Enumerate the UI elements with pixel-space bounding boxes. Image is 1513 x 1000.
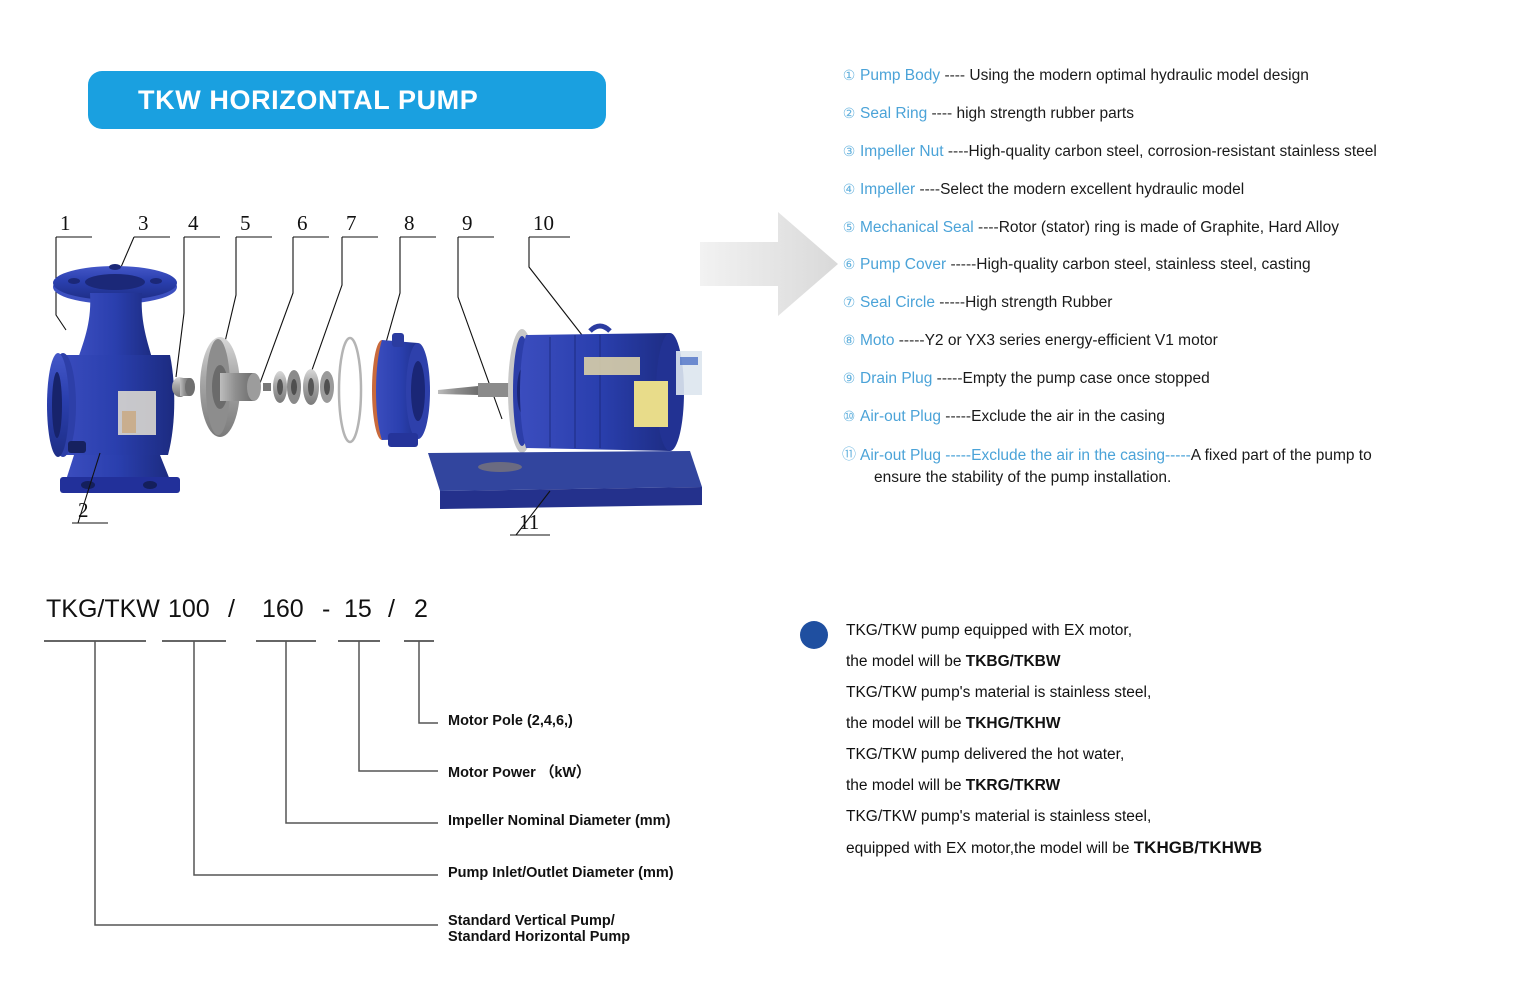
legend-part-name: Air-out Plug bbox=[860, 408, 941, 425]
note-text: TKG/TKW pump's material is stainless ste… bbox=[846, 808, 1151, 825]
legend-description: Using the modern optimal hydraulic model… bbox=[969, 67, 1308, 84]
bullet-dot-icon bbox=[800, 621, 828, 649]
motor-part bbox=[428, 326, 702, 509]
legend-number: ① bbox=[838, 66, 860, 85]
legend-item-11: ⑪ Air-out Plug -----Exclude the air in t… bbox=[838, 445, 1498, 490]
legend-number: ⑨ bbox=[838, 369, 860, 388]
legend-item: ⑧ Moto -----Y2 or YX3 series energy-effi… bbox=[838, 331, 1498, 350]
legend-dash: ----- bbox=[941, 447, 971, 464]
page-title: TKW HORIZONTAL PUMP bbox=[88, 85, 478, 116]
legend-number: ④ bbox=[838, 180, 860, 199]
callout-number-2: 2 bbox=[78, 498, 89, 522]
legend-item: ③ Impeller Nut ----High-quality carbon s… bbox=[838, 142, 1498, 161]
callout-number-10: 10 bbox=[533, 211, 554, 235]
legend-part-name: Pump Body bbox=[860, 67, 940, 84]
legend-item: ⑤ Mechanical Seal ----Rotor (stator) rin… bbox=[838, 218, 1498, 237]
legend-item: ④ Impeller ----Select the modern excelle… bbox=[838, 180, 1498, 199]
model-callout-impeller-diameter: Impeller Nominal Diameter (mm) bbox=[448, 813, 670, 829]
legend-description: high strength rubber parts bbox=[956, 105, 1134, 122]
note-line: the model will be TKHG/TKHW bbox=[846, 708, 1490, 739]
model-callout-lines bbox=[30, 595, 730, 965]
impeller-nut-part bbox=[172, 377, 195, 397]
callout-number-4: 4 bbox=[188, 211, 199, 235]
legend-dash: ----- bbox=[941, 408, 971, 425]
legend-dash: ---- bbox=[927, 105, 956, 122]
legend-dash: ----- bbox=[946, 256, 976, 273]
callout-number-9: 9 bbox=[462, 211, 473, 235]
callout-number-7: 7 bbox=[346, 211, 357, 235]
legend-item: ⑩ Air-out Plug -----Exclude the air in t… bbox=[838, 407, 1498, 426]
callout-number-3: 3 bbox=[138, 211, 149, 235]
legend-description: A fixed part of the pump to bbox=[1191, 447, 1372, 464]
legend-description: High strength Rubber bbox=[965, 294, 1112, 311]
legend-part-name: Impeller Nut bbox=[860, 143, 944, 160]
note-model: TKBG/TKBW bbox=[966, 653, 1061, 670]
note-model: TKRG/TKRW bbox=[966, 777, 1060, 794]
note-line: TKG/TKW pump's material is stainless ste… bbox=[846, 801, 1490, 832]
legend-description: Exclude the air in the casing bbox=[971, 408, 1165, 425]
model-code-breakdown: TKG/TKW 100 / 160 - 15 / 2 bbox=[30, 595, 730, 965]
legend-description: Empty the pump case once stopped bbox=[963, 370, 1210, 387]
note-text: TKG/TKW pump delivered the hot water, bbox=[846, 746, 1124, 763]
mechanical-seal-part bbox=[263, 369, 334, 405]
parts-legend: ① Pump Body ---- Using the modern optima… bbox=[838, 66, 1498, 508]
pump-body-part bbox=[47, 264, 180, 493]
model-callout-standard-pump-line2: Standard Horizontal Pump bbox=[448, 929, 630, 945]
note-model: TKHG/TKHW bbox=[966, 715, 1061, 732]
note-text: TKG/TKW pump equipped with EX motor, bbox=[846, 622, 1132, 639]
note-text: the model will be bbox=[846, 653, 966, 670]
model-callout-motor-pole: Motor Pole (2,4,6,) bbox=[448, 713, 573, 729]
legend-dash: ---- bbox=[974, 219, 999, 236]
legend-part-name: Seal Circle bbox=[860, 294, 935, 311]
exploded-view-figure: 1 3 4 5 6 7 8 9 10 bbox=[30, 205, 710, 565]
note-line: the model will be TKBG/TKBW bbox=[846, 646, 1490, 677]
note-line: TKG/TKW pump equipped with EX motor, bbox=[846, 615, 1490, 646]
note-line: TKG/TKW pump delivered the hot water, bbox=[846, 739, 1490, 770]
model-callout-motor-power: Motor Power （kW） bbox=[448, 761, 591, 782]
model-callout-inlet-diameter: Pump Inlet/Outlet Diameter (mm) bbox=[448, 865, 674, 881]
legend-part-name: Seal Ring bbox=[860, 105, 927, 122]
seal-circle-part bbox=[339, 338, 361, 442]
legend-part-name: Drain Plug bbox=[860, 370, 932, 387]
model-callout-standard-pump-line1: Standard Vertical Pump/ bbox=[448, 913, 615, 929]
legend-number: ⑥ bbox=[838, 255, 860, 274]
legend-number: ⑪ bbox=[838, 445, 860, 464]
legend-dash: ----- bbox=[935, 294, 965, 311]
page-title-banner: TKW HORIZONTAL PUMP bbox=[88, 71, 606, 129]
legend-item: ⑦ Seal Circle -----High strength Rubber bbox=[838, 293, 1498, 312]
callout-number-6: 6 bbox=[297, 211, 308, 235]
legend-part-name: Impeller bbox=[860, 181, 915, 198]
legend-description: High-quality carbon steel, stainless ste… bbox=[976, 256, 1310, 273]
legend-item: ① Pump Body ---- Using the modern optima… bbox=[838, 66, 1498, 85]
legend-number: ② bbox=[838, 104, 860, 123]
legend-item: ⑨ Drain Plug -----Empty the pump case on… bbox=[838, 369, 1498, 388]
legend-number: ③ bbox=[838, 142, 860, 161]
legend-dash: ----- bbox=[932, 370, 962, 387]
legend-dash: ---- bbox=[915, 181, 940, 198]
note-model: TKHGB/TKHWB bbox=[1134, 838, 1262, 857]
note-text: TKG/TKW pump's material is stainless ste… bbox=[846, 684, 1151, 701]
page-root: TKW HORIZONTAL PUMP bbox=[0, 0, 1513, 1000]
note-line: the model will be TKRG/TKRW bbox=[846, 770, 1490, 801]
legend-description-line2: ensure the stability of the pump install… bbox=[860, 467, 1498, 489]
legend-description: Rotor (stator) ring is made of Graphite,… bbox=[999, 219, 1339, 236]
legend-description: High-quality carbon steel, corrosion-res… bbox=[969, 143, 1377, 160]
legend-part-name: Moto bbox=[860, 332, 894, 349]
right-arrow-icon bbox=[700, 212, 840, 317]
legend-number: ⑤ bbox=[838, 218, 860, 237]
note-text: equipped with EX motor,the model will be bbox=[846, 840, 1134, 857]
note-line: equipped with EX motor,the model will be… bbox=[846, 832, 1490, 864]
note-line: TKG/TKW pump's material is stainless ste… bbox=[846, 677, 1490, 708]
legend-dash: ----- bbox=[894, 332, 924, 349]
callout-number-11: 11 bbox=[519, 510, 539, 534]
pump-cover-part bbox=[372, 333, 430, 447]
legend-description: Select the modern excellent hydraulic mo… bbox=[940, 181, 1244, 198]
model-callout-standard-pump: Standard Vertical Pump/ Standard Horizon… bbox=[448, 913, 630, 945]
legend-number: ⑩ bbox=[838, 407, 860, 426]
legend-part-name: Pump Cover bbox=[860, 256, 946, 273]
legend-blue-tail: Exclude the air in the casing----- bbox=[971, 447, 1191, 464]
legend-part-name: Air-out Plug bbox=[860, 447, 941, 464]
callout-number-1: 1 bbox=[60, 211, 71, 235]
legend-number: ⑧ bbox=[838, 331, 860, 350]
model-variant-notes: TKG/TKW pump equipped with EX motor, the… bbox=[800, 615, 1490, 864]
note-text: the model will be bbox=[846, 777, 966, 794]
legend-number: ⑦ bbox=[838, 293, 860, 312]
impeller-part bbox=[200, 337, 261, 437]
legend-dash: ---- bbox=[944, 143, 969, 160]
legend-description: Y2 or YX3 series energy-efficient V1 mot… bbox=[925, 332, 1218, 349]
callout-number-5: 5 bbox=[240, 211, 251, 235]
legend-dash: ---- bbox=[940, 67, 969, 84]
legend-part-name: Mechanical Seal bbox=[860, 219, 974, 236]
callout-number-8: 8 bbox=[404, 211, 415, 235]
note-text: the model will be bbox=[846, 715, 966, 732]
legend-item: ⑥ Pump Cover -----High-quality carbon st… bbox=[838, 255, 1498, 274]
legend-item: ② Seal Ring ---- high strength rubber pa… bbox=[838, 104, 1498, 123]
